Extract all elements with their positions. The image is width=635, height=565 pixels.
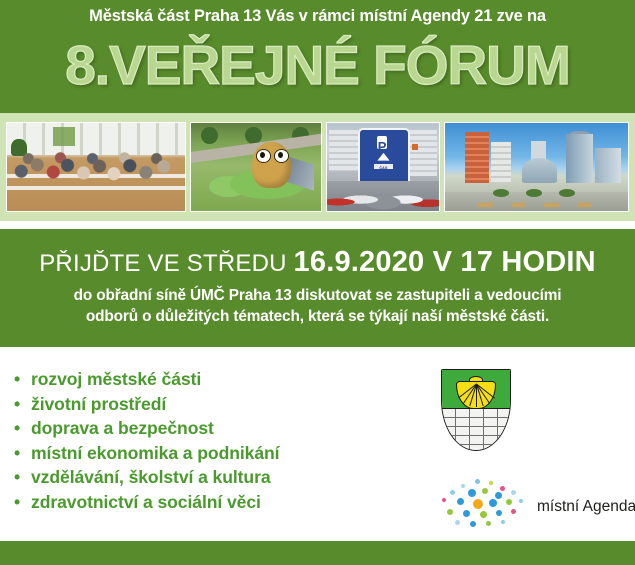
photo-audience-in-hall — [6, 122, 186, 212]
parking-sign: P ČAS PŘÍJEZDU — [358, 128, 409, 188]
photo-parking-sign: P ČAS PŘÍJEZDU — [326, 122, 440, 212]
list-item: zdravotnictví a sociální věci — [14, 490, 279, 515]
agenda-dot — [501, 520, 505, 524]
list-item: doprava a bezpečnost — [14, 416, 279, 441]
plaza-shrub — [493, 189, 509, 197]
agenda-dot — [511, 509, 516, 514]
photo-owl-playground — [190, 122, 322, 212]
parking-p-letter: P — [377, 136, 386, 150]
parking-sign-label: ČAS PŘÍJEZDU — [374, 164, 393, 169]
list-item: vzdělávání, školství a kultura — [14, 465, 279, 490]
plaza-planter — [544, 203, 559, 207]
agenda-dot — [473, 499, 483, 509]
plaza-planter — [511, 203, 526, 207]
white-tower — [491, 142, 511, 182]
owl-playground-image — [191, 123, 321, 211]
agenda-dot — [519, 499, 523, 503]
event-description-line-1: do obřadní síně ÚMČ Praha 13 diskutovat … — [0, 285, 635, 306]
agenda-dot — [495, 492, 502, 499]
agenda-dot — [489, 499, 497, 507]
city-skyline-image — [445, 123, 628, 211]
agenda-dot — [475, 479, 480, 484]
page-title: 8.VEŘEJNÉ FÓRUM — [0, 38, 635, 93]
event-description-line-2: odborů o důležitých tématech, která se t… — [0, 306, 635, 327]
background-building — [408, 130, 437, 176]
shield-brick-wall — [442, 409, 510, 450]
orange-tower — [465, 132, 489, 183]
agenda-dot — [455, 520, 460, 525]
local-agenda-21-logo: místní Agenda 21 — [437, 477, 632, 533]
plaza-planter — [577, 203, 592, 207]
dome-building — [522, 158, 557, 183]
event-date-time: 16.9.2020 V 17 HODIN — [294, 246, 596, 278]
topics-list: rozvoj městské části životní prostředí d… — [14, 367, 279, 514]
hall-crowd — [7, 146, 185, 188]
list-item: rozvoj městské části — [14, 367, 279, 392]
event-when-prefix: PŘIJĎTE VE STŘEDU — [39, 250, 293, 277]
agenda-dots-icon — [437, 477, 529, 533]
background-building — [329, 130, 358, 170]
agenda-dot — [489, 481, 493, 485]
shield-shape — [441, 369, 511, 451]
agenda-dot — [482, 488, 488, 494]
agenda-dot — [450, 490, 455, 495]
agenda-dot — [470, 521, 476, 527]
footer-green-bar — [0, 541, 635, 565]
agenda-dot — [496, 510, 502, 516]
agenda-dot — [506, 499, 512, 505]
parking-lot-image: P ČAS PŘÍJEZDU — [327, 123, 439, 211]
parked-cars — [327, 181, 439, 211]
coat-of-arms-icon — [441, 369, 511, 451]
playground-tree — [201, 127, 218, 145]
poster-root: Městská část Praha 13 Vás v rámci místní… — [0, 0, 635, 565]
agenda-dot — [447, 509, 453, 515]
list-item: životní prostředí — [14, 392, 279, 417]
agenda-dot — [500, 486, 505, 491]
list-item: místní ekonomika a podnikání — [14, 441, 279, 466]
agenda-dot — [461, 484, 465, 488]
agenda-logo-text: místní Agenda 21 — [537, 495, 635, 516]
agenda-dot — [442, 498, 446, 502]
agenda-dot — [511, 490, 516, 495]
agenda-dot — [457, 498, 464, 505]
agenda-dot — [480, 511, 487, 518]
plaza-shrub — [559, 189, 575, 197]
header-green-block: Městská část Praha 13 Vás v rámci místní… — [0, 0, 635, 113]
building-accent — [412, 144, 418, 150]
glass-tower — [595, 148, 621, 183]
agenda-logo-text-plain: místní Agenda — [537, 498, 635, 515]
agenda-dot — [463, 510, 470, 517]
invite-line: Městská část Praha 13 Vás v rámci místní… — [0, 7, 635, 26]
photo-row: P ČAS PŘÍJEZDU — [6, 122, 629, 212]
scallop-shell-icon — [456, 376, 496, 409]
event-green-block: PŘIJĎTE VE STŘEDU 16.9.2020 V 17 HODIN d… — [0, 229, 635, 347]
glass-tower — [566, 134, 593, 183]
hall-green-panel — [53, 127, 74, 146]
photo-strip: P ČAS PŘÍJEZDU — [0, 113, 635, 221]
agenda-dot — [486, 521, 491, 526]
photo-city-skyline — [444, 122, 629, 212]
event-description: do obřadní síně ÚMČ Praha 13 diskutovat … — [0, 285, 635, 327]
plaza-shrub — [526, 189, 542, 197]
event-when-line: PŘIJĎTE VE STŘEDU 16.9.2020 V 17 HODIN — [0, 246, 635, 279]
agenda-dot — [468, 489, 476, 497]
plaza-planter — [478, 203, 493, 207]
audience-hall-image — [7, 123, 185, 211]
